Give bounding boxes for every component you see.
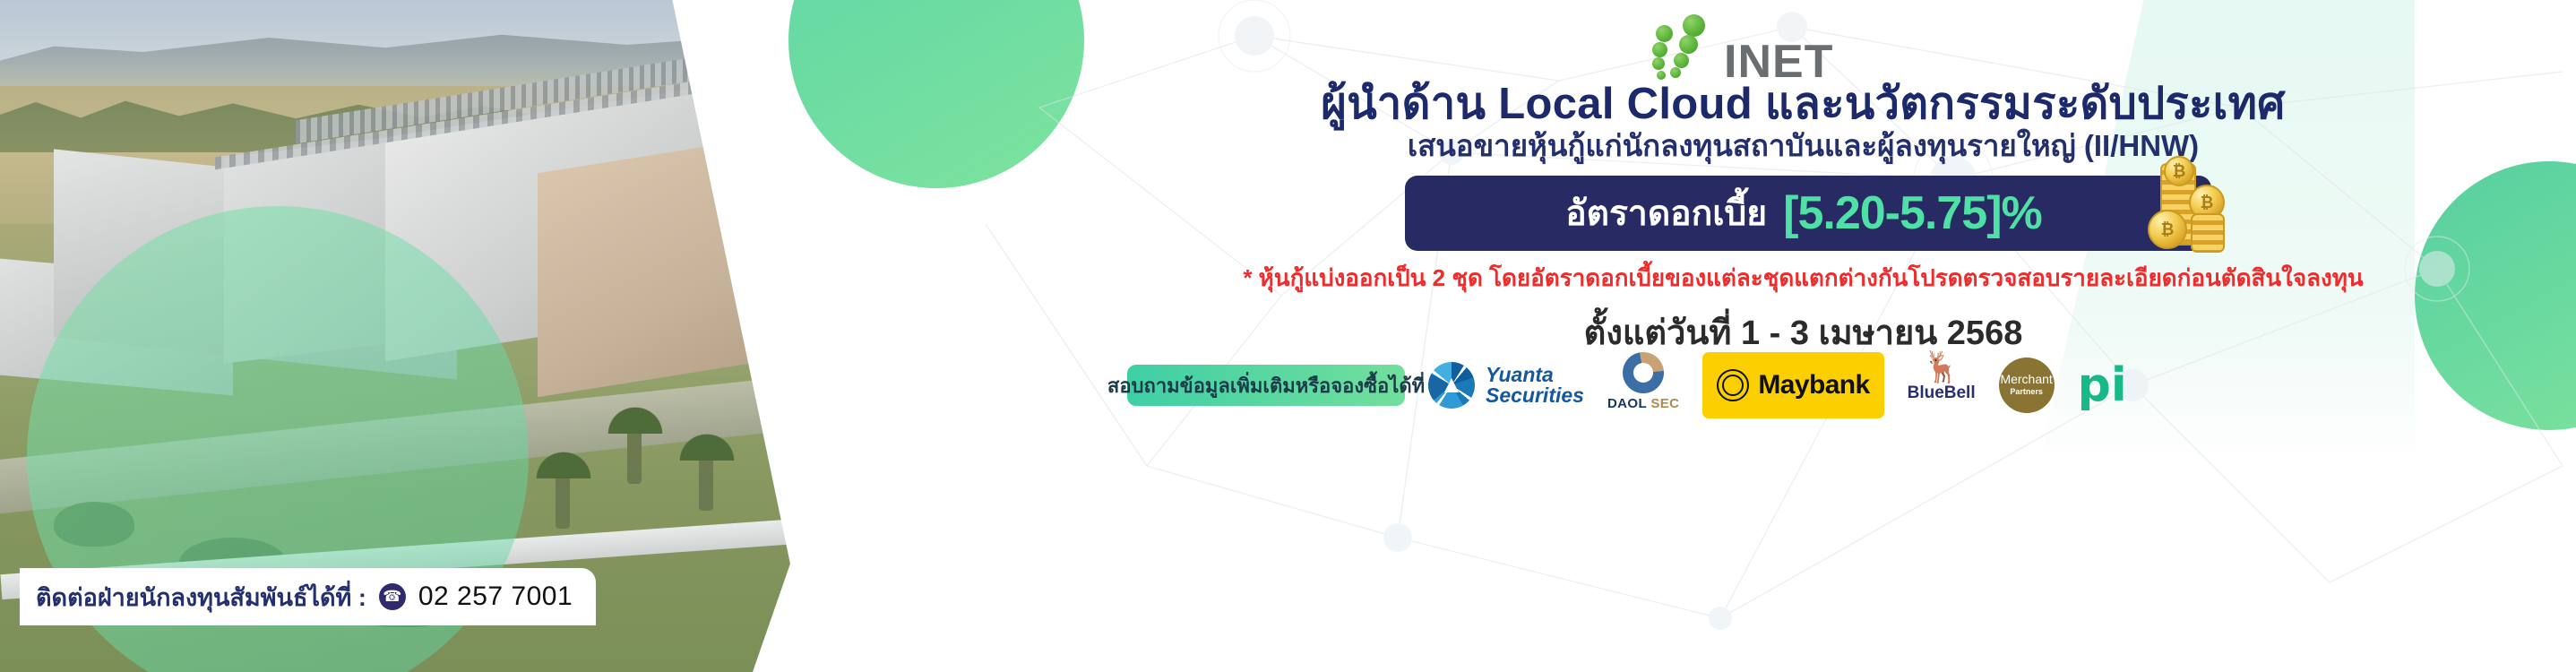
content-column: INET ผู้นำด้าน Local Cloud และนวัตกรรมระ… (1030, 0, 2576, 672)
partner-daol-line1: DAOL (1607, 396, 1647, 411)
phone-icon: ☎ (379, 583, 406, 610)
partner-merchant-line2: Partners (2010, 385, 2043, 398)
partner-logo-daol[interactable]: DAOL SEC (1607, 352, 1679, 418)
partner-maybank-label: Maybank (1758, 370, 1869, 401)
contact-label: ติดต่อฝ่ายนักลงทุนสัมพันธ์ได้ที่ : (36, 578, 366, 616)
contact-phone-number[interactable]: 02 257 7001 (418, 582, 573, 612)
bluebell-deer-icon: 🦌 (1922, 352, 1960, 383)
cta-inquiry-button[interactable]: สอบถามข้อมูลเพิ่มเติมหรือจองซื้อได้ที่ (1127, 365, 1405, 406)
partner-pi-label: pi (2078, 365, 2127, 407)
photo-palm-2 (699, 448, 713, 511)
photo-palm-1 (627, 421, 642, 484)
partner-yuanta-line1: Yuanta (1486, 363, 1554, 386)
maybank-tiger-icon (1717, 369, 1749, 401)
inet-logo[interactable]: INET (1649, 14, 1944, 79)
contact-card: ติดต่อฝ่ายนักลงทุนสัมพันธ์ได้ที่ : ☎ 02 … (20, 568, 596, 625)
partner-logo-merchant-partners[interactable]: Merchant Partners (1999, 358, 2055, 413)
inet-green-dots-logo (1649, 14, 1726, 79)
daol-circle-icon (1623, 352, 1664, 393)
partner-logo-pi[interactable]: pi (2078, 352, 2127, 418)
gold-bitcoin-coins-icon: ₿ ₿ ₿ (2146, 159, 2232, 258)
partner-merchant-line1: Merchant (2000, 373, 2052, 385)
partner-yuanta-line2: Securities (1486, 383, 1584, 407)
photo-palm-3 (556, 466, 570, 529)
promotional-banner: INET ผู้นำด้าน Local Cloud และนวัตกรรมระ… (0, 0, 2576, 672)
interest-rate-label: อัตราดอกเบี้ย (1565, 185, 1767, 241)
partner-logo-bluebell[interactable]: 🦌 BlueBell (1908, 352, 1976, 418)
yuanta-star-icon (1428, 362, 1475, 409)
partner-logo-maybank[interactable]: Maybank (1702, 352, 1883, 418)
partners-row: สอบถามข้อมูลเพิ่มเติมหรือจองซื้อได้ที่ Y… (1030, 349, 2576, 421)
interest-rate-box: อัตราดอกเบี้ย [5.20-5.75]% (1405, 176, 2211, 251)
partner-logo-yuanta[interactable]: Yuanta Securities (1428, 352, 1584, 418)
page-title: ผู้นำด้าน Local Cloud และนวัตกรรมระดับปร… (1030, 79, 2576, 131)
partner-bluebell-label: BlueBell (1908, 383, 1976, 403)
partner-daol-line2: SEC (1650, 396, 1679, 411)
page-subtitle: เสนอขายหุ้นกู้แก่นักลงทุนสถาบันและผู้ลงท… (1030, 127, 2576, 164)
interest-rate-value: [5.20-5.75]% (1783, 186, 2042, 240)
disclaimer-text: * หุ้นกู้แบ่งออกเป็น 2 ชุด โดยอัตราดอกเบ… (1030, 260, 2576, 297)
